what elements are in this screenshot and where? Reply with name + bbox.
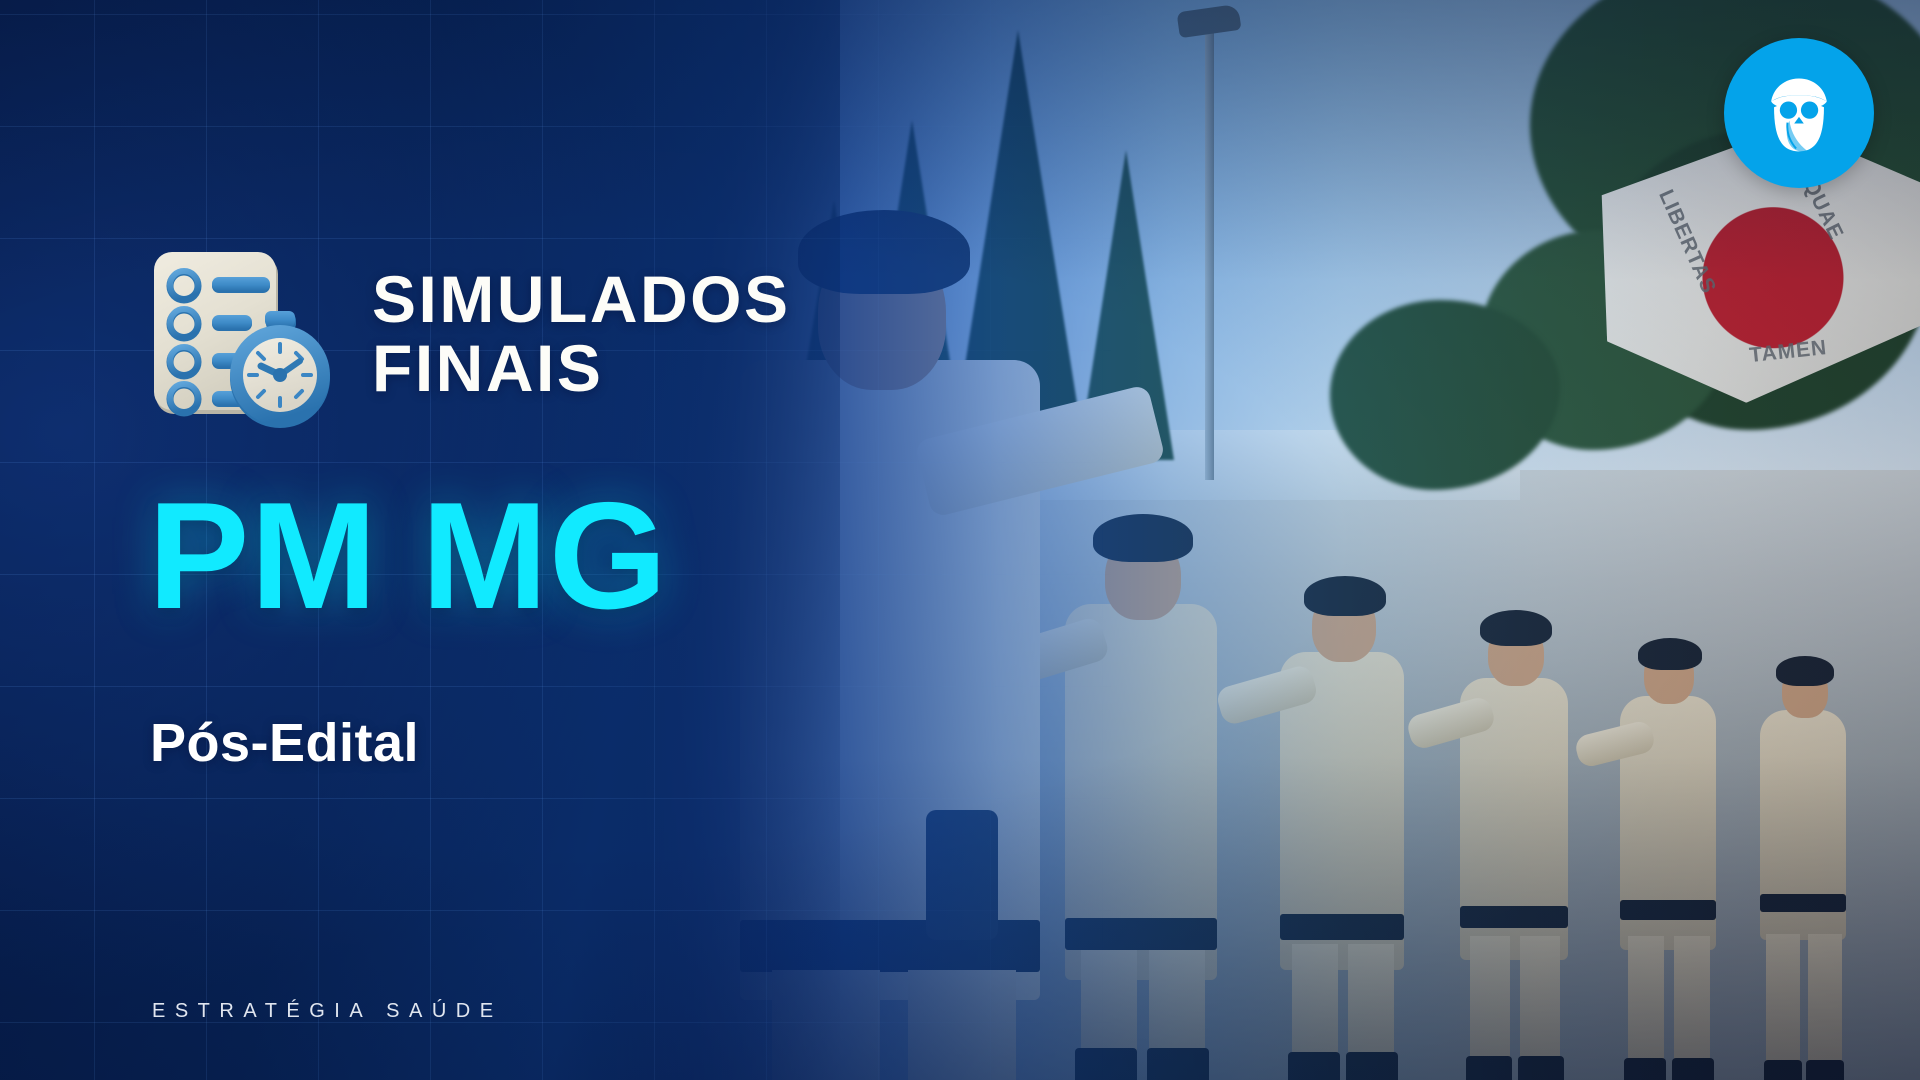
headline: SIMULADOS FINAIS xyxy=(372,265,791,402)
page-title: PM MG xyxy=(148,480,668,632)
headline-row: SIMULADOS FINAIS xyxy=(148,238,791,430)
headline-line-2: FINAIS xyxy=(372,334,791,403)
banner-content: SIMULADOS FINAIS PM MG Pós-Edital ESTRAT… xyxy=(0,0,1920,1080)
headline-line-1: SIMULADOS xyxy=(372,262,791,336)
promo-banner: LIBERTAS QUAE TAMEN xyxy=(0,0,1920,1080)
subtitle: Pós-Edital xyxy=(150,716,419,770)
checklist-stopwatch-icon xyxy=(148,238,340,430)
brand-line: ESTRATÉGIA SAÚDE xyxy=(152,1000,503,1023)
